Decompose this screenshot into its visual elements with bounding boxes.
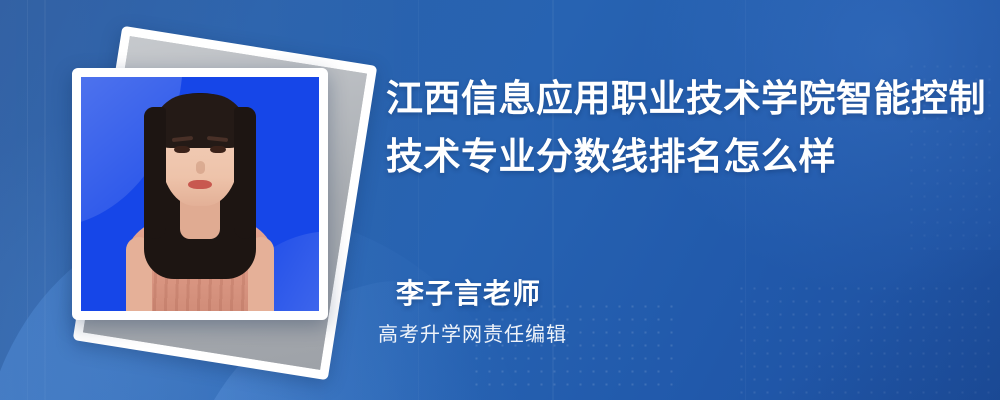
portrait-eye-right [210, 146, 226, 153]
portrait-eye-left [174, 146, 190, 153]
banner-text-content: 江西信息应用职业技术学院智能控制技术专业分数线排名怎么样 李子言老师 高考升学网… [378, 0, 1000, 400]
portrait-hair-side-right [234, 107, 256, 239]
portrait-hair-front [153, 94, 247, 148]
author-name: 李子言老师 [396, 272, 541, 312]
author-portrait [81, 77, 319, 311]
portrait-lips [188, 180, 212, 189]
portrait-hair-side-left [144, 107, 166, 239]
page-title: 江西信息应用职业技术学院智能控制技术专业分数线排名怎么样 [386, 70, 986, 186]
portrait-nose [196, 161, 205, 174]
author-role: 高考升学网责任编辑 [378, 318, 567, 347]
author-photo-stack [0, 0, 380, 400]
article-header-banner: 江西信息应用职业技术学院智能控制技术专业分数线排名怎么样 李子言老师 高考升学网… [0, 0, 1000, 400]
author-photo-image [81, 77, 319, 311]
author-photo-card [72, 68, 328, 320]
